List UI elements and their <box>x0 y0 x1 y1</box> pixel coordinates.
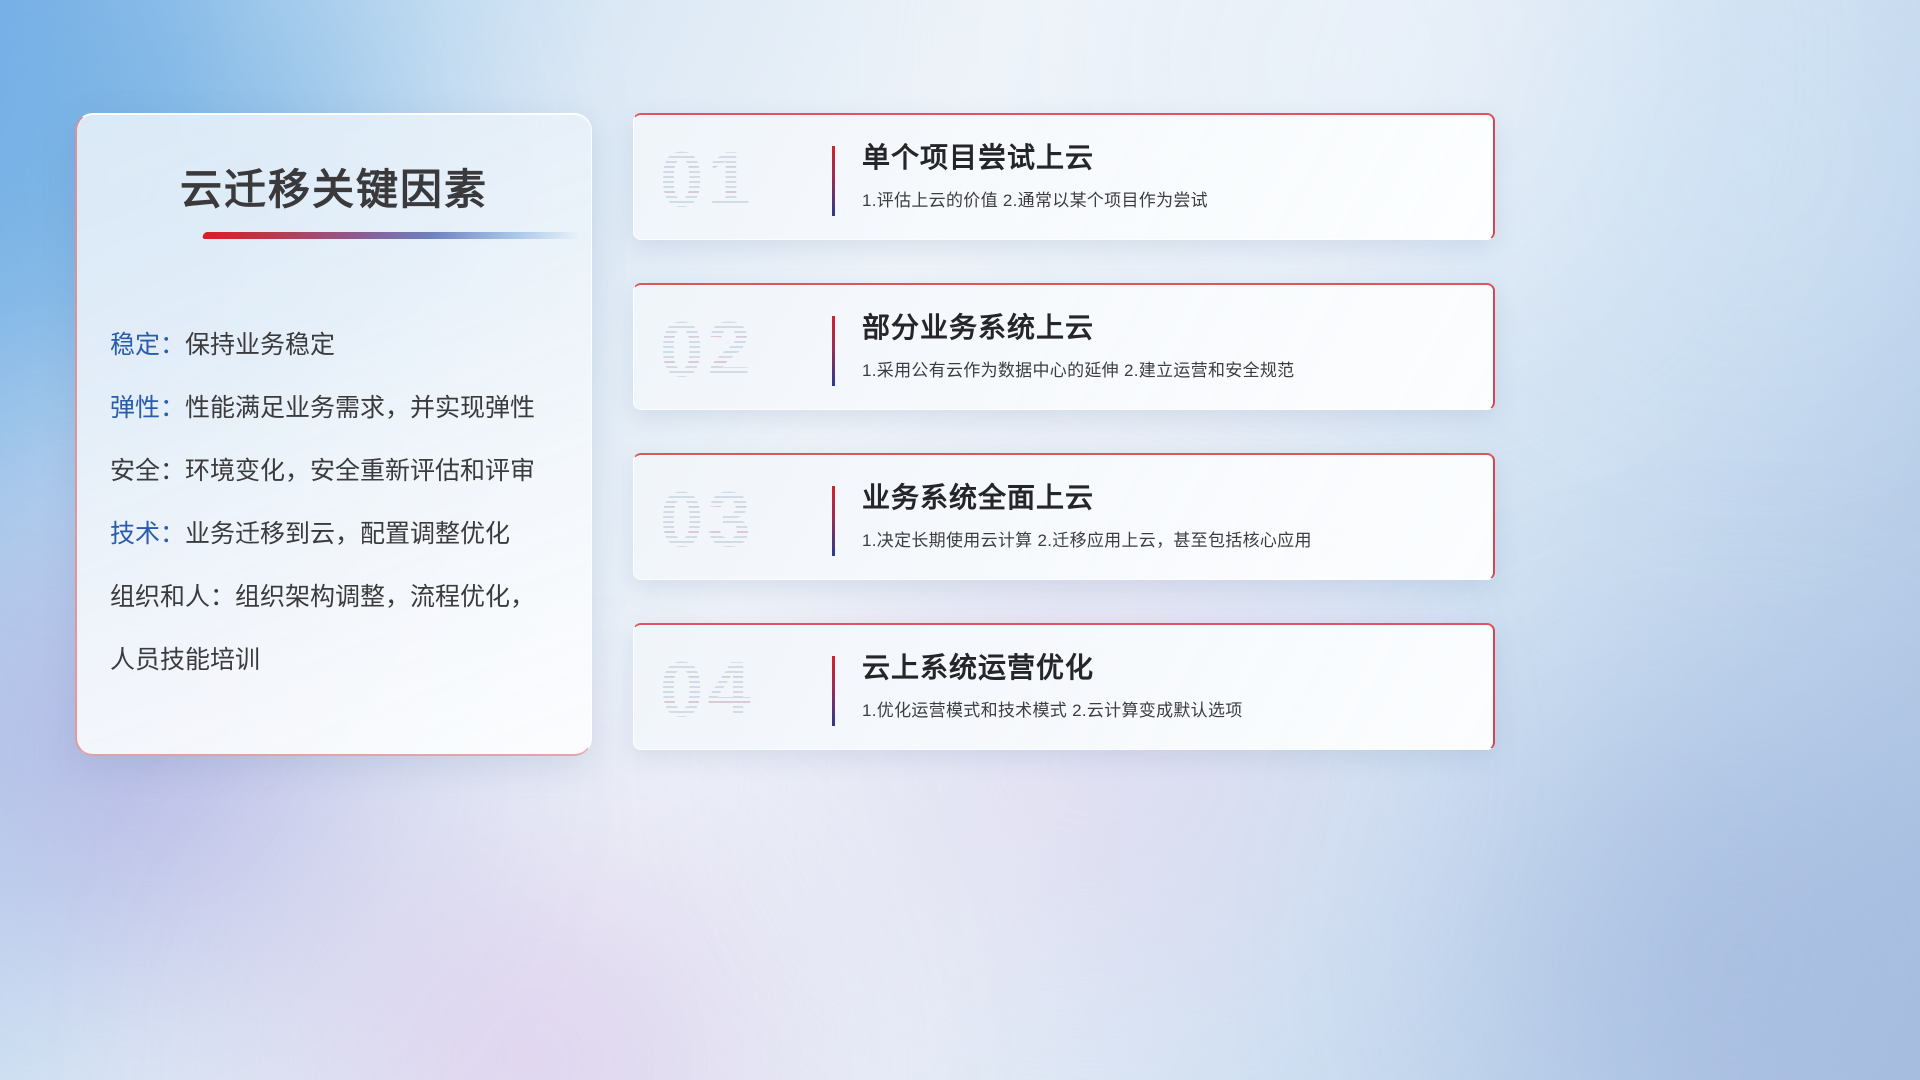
card-accent-divider <box>832 146 835 216</box>
card-body: 部分业务系统上云1.采用公有云作为数据中心的延伸 2.建立运营和安全规范 <box>862 309 1471 383</box>
factor-label: 技术： <box>110 520 185 548</box>
card-detail: 1.采用公有云作为数据中心的延伸 2.建立运营和安全规范 <box>862 359 1471 383</box>
stage-card-03[interactable]: 03业务系统全面上云1.决定长期使用云计算 2.迁移应用上云，甚至包括核心应用 <box>633 453 1495 580</box>
stage-number: 02 <box>660 301 820 397</box>
stage-number: 03 <box>660 471 820 567</box>
factor-label: 组织和人： <box>110 583 235 611</box>
factor-row: 组织和人：组织架构调整，流程优化， <box>110 566 573 629</box>
factor-label: 弹性： <box>110 394 185 422</box>
card-title: 部分业务系统上云 <box>862 309 1471 347</box>
card-accent-divider <box>832 316 835 386</box>
card-accent-divider <box>832 486 835 556</box>
stage-card-04[interactable]: 04云上系统运营优化1.优化运营模式和技术模式 2.云计算变成默认选项 <box>633 623 1495 750</box>
factor-text: 业务迁移到云，配置调整优化 <box>185 520 510 548</box>
title-underline-accent <box>202 232 583 239</box>
factor-label: 稳定： <box>110 331 185 359</box>
card-body: 业务系统全面上云1.决定长期使用云计算 2.迁移应用上云，甚至包括核心应用 <box>862 479 1471 553</box>
card-body: 单个项目尝试上云1.评估上云的价值 2.通常以某个项目作为尝试 <box>862 139 1471 213</box>
factor-text: 保持业务稳定 <box>185 331 335 359</box>
factor-text: 组织架构调整，流程优化， <box>235 583 535 611</box>
card-title: 单个项目尝试上云 <box>862 139 1471 177</box>
factor-text: 环境变化，安全重新评估和评审 <box>185 457 535 485</box>
factor-text: 性能满足业务需求，并实现弹性 <box>185 394 535 422</box>
card-detail: 1.优化运营模式和技术模式 2.云计算变成默认选项 <box>862 699 1471 723</box>
stage-number: 01 <box>660 131 820 227</box>
factor-row: 安全：环境变化，安全重新评估和评审 <box>110 440 573 503</box>
factor-row: 人员技能培训 <box>110 629 573 692</box>
factor-row: 弹性：性能满足业务需求，并实现弹性 <box>110 377 573 440</box>
card-detail: 1.决定长期使用云计算 2.迁移应用上云，甚至包括核心应用 <box>862 529 1471 553</box>
factor-text: 人员技能培训 <box>110 646 260 674</box>
card-accent-divider <box>832 656 835 726</box>
stage-card-02[interactable]: 02部分业务系统上云1.采用公有云作为数据中心的延伸 2.建立运营和安全规范 <box>633 283 1495 410</box>
factor-list: 稳定：保持业务稳定弹性：性能满足业务需求，并实现弹性安全：环境变化，安全重新评估… <box>110 314 573 692</box>
key-factors-panel: 云迁移关键因素 稳定：保持业务稳定弹性：性能满足业务需求，并实现弹性安全：环境变… <box>75 113 592 756</box>
card-title: 业务系统全面上云 <box>862 479 1471 517</box>
card-title: 云上系统运营优化 <box>862 649 1471 687</box>
stage-card-01[interactable]: 01单个项目尝试上云1.评估上云的价值 2.通常以某个项目作为尝试 <box>633 113 1495 240</box>
panel-title: 云迁移关键因素 <box>77 156 591 217</box>
stage-number: 04 <box>660 641 820 737</box>
stage-card-list: 01单个项目尝试上云1.评估上云的价值 2.通常以某个项目作为尝试02部分业务系… <box>633 113 1495 750</box>
card-detail: 1.评估上云的价值 2.通常以某个项目作为尝试 <box>862 189 1471 213</box>
factor-row: 稳定：保持业务稳定 <box>110 314 573 377</box>
card-body: 云上系统运营优化1.优化运营模式和技术模式 2.云计算变成默认选项 <box>862 649 1471 723</box>
factor-label: 安全： <box>110 457 185 485</box>
factor-row: 技术：业务迁移到云，配置调整优化 <box>110 503 573 566</box>
